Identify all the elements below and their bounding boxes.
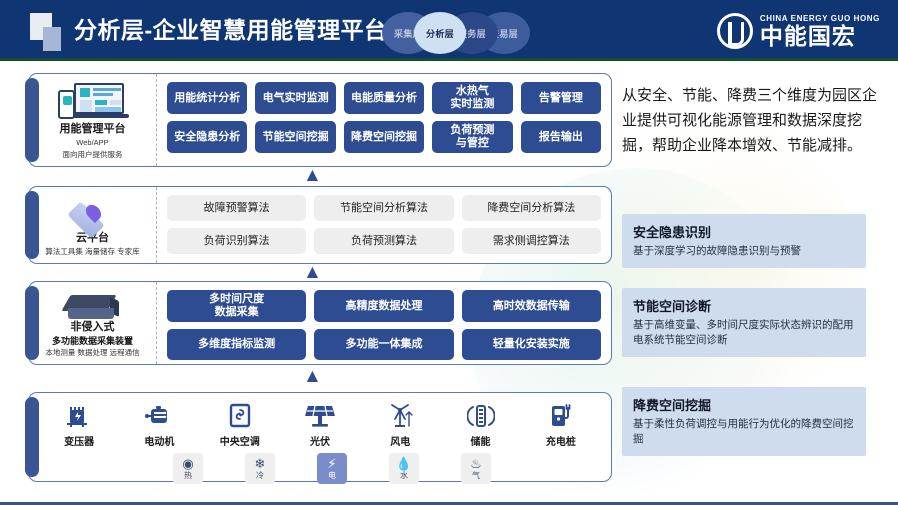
stage-pipeline: 采集层 分析层 服务层 交易层 xyxy=(382,12,532,54)
tile-guzhang-yujing-suanfa[interactable]: 故障预警算法 xyxy=(167,195,306,221)
stage-item-fenxiceng[interactable]: 分析层 xyxy=(414,12,466,54)
laptop-phone-icon xyxy=(56,80,130,116)
energy-label: 热 xyxy=(184,471,192,481)
tile-row: 安全隐患分析 节能空间挖掘 降费空间挖掘 负荷预测与管控 报告输出 xyxy=(167,121,601,153)
panel-device-sub2: 本地测量 数据处理 远程通信 xyxy=(45,348,139,358)
feature-card-desc: 基于高维变量、多时间尺度实际状态辨识的配用电系统节能空间诊断 xyxy=(633,318,855,348)
energy-chip-gas[interactable]: ♨ 气 xyxy=(461,453,491,484)
company-logo: CHINA ENERGY GUO HONG 中能国宏 xyxy=(717,11,880,51)
asset-label: 风电 xyxy=(390,433,410,448)
flow-arrow-up: ▲ xyxy=(303,264,321,281)
intro-paragraph: 从安全、节能、降费三个维度为园区企业提供可视化能源管理和数据深度挖掘，帮助企业降… xyxy=(622,83,880,158)
tile-duoweidu-zhibiao[interactable]: 多维度指标监测 xyxy=(167,329,306,360)
feature-card-title: 安全隐患识别 xyxy=(633,222,855,241)
tile-row: 故障预警算法 节能空间分析算法 降费空间分析算法 xyxy=(167,195,601,221)
panel-platform-sub1: Web/APP xyxy=(76,138,108,148)
tile-yongneng-tongji[interactable]: 用能统计分析 xyxy=(167,82,247,114)
asset-item-central-ac[interactable]: 中央空调 xyxy=(207,400,273,448)
panel-accent-bar xyxy=(25,191,39,259)
tile-gaojing-guanli[interactable]: 告警管理 xyxy=(521,82,601,114)
panel-cloud-tiles: 故障预警算法 节能空间分析算法 降费空间分析算法 负荷识别算法 负荷预测算法 需… xyxy=(157,187,611,263)
panel-platform-sub2: 面向用户提供服务 xyxy=(63,150,123,160)
flow-arrow-up: ▲ xyxy=(303,167,321,184)
panel-platform-identity: 用能管理平台 Web/APP 面向用户提供服务 xyxy=(29,74,157,166)
wind-turbine-icon xyxy=(384,400,416,430)
energy-label: 水 xyxy=(400,471,408,481)
feature-card-desc: 基于柔性负荷调控与用能行为优化的降费空间挖掘 xyxy=(633,417,855,447)
feature-card-title: 节能空间诊断 xyxy=(633,296,855,315)
asset-label: 储能 xyxy=(471,433,491,448)
feature-card-energy-saving: 节能空间诊断 基于高维变量、多时间尺度实际状态辨识的配用电系统节能空间诊断 xyxy=(622,288,866,357)
tile-jiangfei-kongjian-suanfa[interactable]: 降费空间分析算法 xyxy=(462,195,601,221)
cloud-cube-icon xyxy=(56,193,130,225)
panel-device: 非侵入式 多功能数据采集装置 本地测量 数据处理 远程通信 多时间尺度数据采集 … xyxy=(28,281,612,365)
central-ac-icon xyxy=(227,400,253,430)
tile-dianqi-shishi[interactable]: 电气实时监测 xyxy=(255,82,335,114)
energy-label: 冷 xyxy=(256,471,264,481)
energy-type-list: ◉ 热 ❄ 冷 ⚡ 电 💧 水 ♨ 气 xyxy=(39,453,601,484)
header-logo-mark-icon xyxy=(30,13,68,51)
solar-panel-icon xyxy=(304,400,336,430)
tile-qingliang-anzhuang[interactable]: 轻量化安装实施 xyxy=(462,329,601,360)
asset-item-storage[interactable]: 储能 xyxy=(448,400,514,448)
energy-chip-heat[interactable]: ◉ 热 xyxy=(173,453,203,484)
asset-label: 中央空调 xyxy=(220,433,260,448)
energy-label: 电 xyxy=(328,471,336,481)
feature-card-safety: 安全隐患识别 基于深度学习的故障隐患识别与预警 xyxy=(622,214,866,268)
tile-jieneng-kongjian-suanfa[interactable]: 节能空间分析算法 xyxy=(314,195,453,221)
company-logo-chinese: 中能国宏 xyxy=(760,23,880,49)
panel-platform-tiles: 用能统计分析 电气实时监测 电能质量分析 水热气实时监测 告警管理 安全隐患分析… xyxy=(157,74,611,166)
energy-chip-electricity[interactable]: ⚡ 电 xyxy=(317,453,347,484)
panel-platform: 用能管理平台 Web/APP 面向用户提供服务 用能统计分析 电气实时监测 电能… xyxy=(28,73,612,167)
slide-root: 分析层-企业智慧用能管理平台 采集层 分析层 服务层 交易层 CHINA ENE… xyxy=(0,0,898,505)
tile-row: 多时间尺度数据采集 高精度数据处理 高时效数据传输 xyxy=(167,290,601,322)
tile-diann eng-zhiliang[interactable]: 电能质量分析 xyxy=(344,82,424,114)
company-logo-english: CHINA ENERGY GUO HONG xyxy=(760,14,880,23)
asset-label: 电动机 xyxy=(144,433,174,448)
heat-icon: ◉ xyxy=(182,457,193,471)
tile-fuhe-yuce[interactable]: 负荷预测与管控 xyxy=(432,121,512,153)
panel-assets: 变压器 电动机 xyxy=(28,392,612,482)
panel-cloud-identity: 云平台 算法工具集 海量储存 专家库 xyxy=(29,187,157,263)
tile-duogongneng-jicheng[interactable]: 多功能一体集成 xyxy=(314,329,453,360)
asset-item-transformer[interactable]: 变压器 xyxy=(46,400,112,448)
tile-row: 用能统计分析 电气实时监测 电能质量分析 水热气实时监测 告警管理 xyxy=(167,82,601,114)
asset-list: 变压器 电动机 xyxy=(39,400,601,448)
transformer-icon xyxy=(65,400,93,430)
feature-card-title: 降费空间挖掘 xyxy=(633,395,855,414)
panel-accent-bar xyxy=(25,397,39,477)
motor-icon xyxy=(144,400,174,430)
panel-platform-name: 用能管理平台 xyxy=(60,120,126,136)
tile-gaoshixiao-chuanshu[interactable]: 高时效数据传输 xyxy=(462,290,601,322)
asset-label: 变压器 xyxy=(64,433,94,448)
panel-device-tiles: 多时间尺度数据采集 高精度数据处理 高时效数据传输 多维度指标监测 多功能一体集… xyxy=(157,282,611,364)
asset-item-motor[interactable]: 电动机 xyxy=(126,400,192,448)
asset-label: 充电桩 xyxy=(546,433,576,448)
feature-card-cost-reduction: 降费空间挖掘 基于柔性负荷调控与用能行为优化的降费空间挖掘 xyxy=(622,387,866,456)
panel-cloud-sub1: 算法工具集 海量储存 专家库 xyxy=(45,247,139,257)
energy-chip-cooling[interactable]: ❄ 冷 xyxy=(245,453,275,484)
data-collector-box-icon xyxy=(56,288,130,314)
page-title: 分析层-企业智慧用能管理平台 xyxy=(74,14,388,46)
tile-row: 负荷识别算法 负荷预测算法 需求侧调控算法 xyxy=(167,228,601,254)
ev-charger-icon xyxy=(547,400,575,430)
cooling-icon: ❄ xyxy=(255,457,266,471)
panel-cloud: 云平台 算法工具集 海量储存 专家库 故障预警算法 节能空间分析算法 降费空间分… xyxy=(28,186,612,264)
panel-device-sub1: 多功能数据采集装置 xyxy=(52,336,133,346)
tile-fuhe-yuce-suanfa[interactable]: 负荷预测算法 xyxy=(314,228,453,254)
tile-row: 多维度指标监测 多功能一体集成 轻量化安装实施 xyxy=(167,329,601,360)
tile-xuqiuce-tiaokong-suanfa[interactable]: 需求侧调控算法 xyxy=(462,228,601,254)
flow-arrow-up: ▲ xyxy=(303,368,321,385)
tile-shuireqi-shishi[interactable]: 水热气实时监测 xyxy=(432,82,512,114)
tile-baogao-shuchu[interactable]: 报告输出 xyxy=(521,121,601,153)
page-header: 分析层-企业智慧用能管理平台 采集层 分析层 服务层 交易层 CHINA ENE… xyxy=(0,0,898,61)
panel-accent-bar xyxy=(25,286,39,360)
asset-label: 光伏 xyxy=(310,433,330,448)
tile-duoshijian-chidu[interactable]: 多时间尺度数据采集 xyxy=(167,290,306,322)
energy-chip-water[interactable]: 💧 水 xyxy=(389,453,419,484)
tile-fuhe-shibie-suanfa[interactable]: 负荷识别算法 xyxy=(167,228,306,254)
tile-jieneng-kongjian[interactable]: 节能空间挖掘 xyxy=(255,121,335,153)
panel-device-identity: 非侵入式 多功能数据采集装置 本地测量 数据处理 远程通信 xyxy=(29,282,157,364)
tile-jiangfei-kongjian[interactable]: 降费空间挖掘 xyxy=(344,121,424,153)
asset-item-ev-charger[interactable]: 充电桩 xyxy=(528,400,594,448)
battery-storage-icon xyxy=(467,400,495,430)
tile-gaojingdu-shuju[interactable]: 高精度数据处理 xyxy=(314,290,453,322)
asset-item-solar[interactable]: 光伏 xyxy=(287,400,353,448)
feature-card-desc: 基于深度学习的故障隐患识别与预警 xyxy=(633,244,855,259)
electricity-icon: ⚡ xyxy=(327,457,336,471)
energy-label: 气 xyxy=(472,471,480,481)
panel-accent-bar xyxy=(25,78,39,162)
gas-icon: ♨ xyxy=(470,457,482,471)
company-logo-icon xyxy=(717,13,753,49)
tile-anquan-yinhuan[interactable]: 安全隐患分析 xyxy=(167,121,247,153)
water-icon: 💧 xyxy=(396,457,412,471)
asset-item-wind[interactable]: 风电 xyxy=(367,400,433,448)
